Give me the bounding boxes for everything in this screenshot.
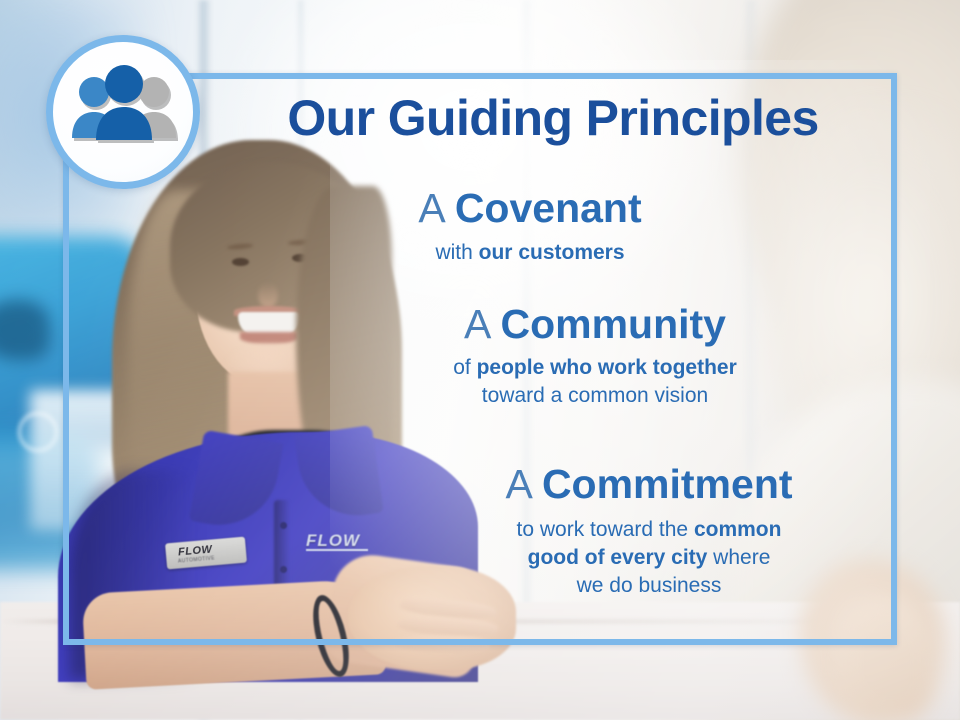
principle-subtext-line: toward a common vision — [370, 382, 820, 410]
principle-heading: A Covenant — [330, 186, 730, 230]
principle-subtext-run: toward a common vision — [482, 384, 708, 407]
principle-subtext: with our customers — [330, 239, 730, 267]
principle-subtext-run: common — [694, 518, 782, 541]
principle-subtext-run: with — [435, 241, 478, 264]
principle-keyword: Covenant — [455, 185, 642, 231]
principle-subtext-line: we do business — [418, 572, 880, 600]
principle-subtext-run: where — [707, 546, 770, 569]
principle-keyword: Community — [500, 301, 726, 347]
principle-subtext-run: our customers — [479, 241, 625, 264]
principle-subtext-run: good of every city — [528, 546, 708, 569]
principle-subtext-run: we do business — [577, 574, 722, 597]
car-shadow — [0, 300, 50, 360]
principle-subtext-line: with our customers — [330, 239, 730, 267]
principle-subtext-run: people who work together — [477, 356, 737, 379]
principle-lead: A — [505, 461, 541, 507]
guiding-principles-banner: FLOW AUTOMOTIVE FLOW — [0, 0, 960, 720]
principle-subtext-line: good of every city where — [418, 544, 880, 572]
principle-heading: A Commitment — [418, 462, 880, 506]
page-title: Our Guiding Principles — [213, 92, 893, 145]
principle-lead: A — [418, 185, 454, 231]
principle-subtext-run: of — [453, 356, 476, 379]
principle-heading: A Community — [370, 302, 820, 346]
principle-keyword: Commitment — [542, 461, 793, 507]
principle-subtext-line: to work toward the common — [418, 516, 880, 544]
principle-subtext-run: to work toward the — [517, 518, 694, 541]
principle-subtext: of people who work togethertoward a comm… — [370, 354, 820, 409]
principle-covenant: A Covenant with our customers — [330, 186, 730, 267]
principle-lead: A — [464, 301, 500, 347]
principle-community: A Community of people who work togethert… — [370, 302, 820, 410]
principle-commitment: A Commitment to work toward the commongo… — [418, 462, 880, 599]
principle-subtext: to work toward the commongood of every c… — [418, 516, 880, 599]
people-group-icon — [68, 62, 180, 162]
principle-subtext-line: of people who work together — [370, 354, 820, 382]
